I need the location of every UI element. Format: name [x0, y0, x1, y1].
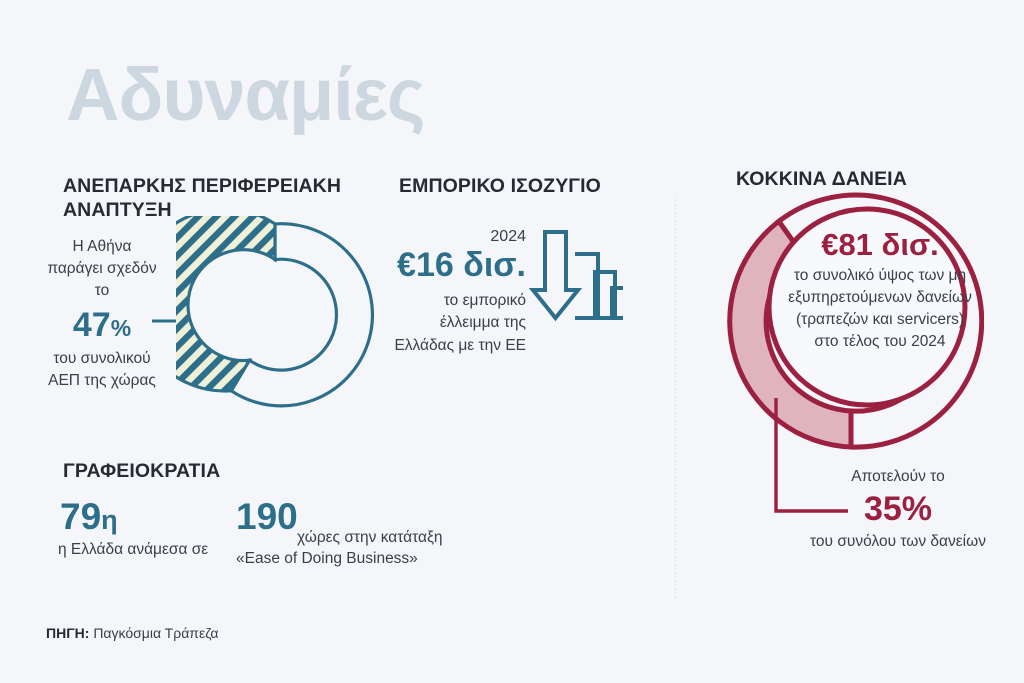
bureaucracy-index-name: «Ease of Doing Business» [236, 550, 418, 568]
trade-deficit-description: το εμπορικό έλλειμμα της Ελλάδας με την … [380, 290, 526, 357]
source-value: Παγκόσμια Τράπεζα [93, 625, 218, 641]
npl-share-percentage: 35% [800, 489, 996, 530]
page-title: Αδυναμίες [66, 58, 424, 132]
section-heading-bureaucracy: ΓΡΑΦΕΙΟΚΡΑΤΙΑ [63, 460, 363, 484]
bureaucracy-rank-value: 79η [60, 498, 118, 535]
bureaucracy-rank-suffix: η [101, 505, 118, 535]
bar-short [612, 288, 623, 318]
source-line: ΠΗΓΗ: Παγκόσμια Τράπεζα [46, 625, 219, 641]
npl-share-annotation: Αποτελούν το 35% του συνόλου των δανείων [800, 466, 996, 553]
donut-chart-regional-gdp [176, 216, 374, 414]
npl-share-lead-text: Αποτελούν το [851, 468, 944, 485]
trade-deficit-amount: €16 δισ. [372, 248, 526, 284]
regional-annotation: Η Αθήνα παράγει σχεδόν το 47% του συνολι… [46, 236, 158, 392]
regional-trail-text: του συνολικού ΑΕΠ της χώρας [48, 350, 156, 389]
section-heading-trade-balance: ΕΜΠΟΡΙΚΟ ΙΣΟΖΥΓΙΟ [399, 175, 649, 199]
npl-amount: €81 δισ. [788, 228, 972, 262]
panel-divider [675, 196, 676, 600]
bureaucracy-rank-description: η Ελλάδα ανάμεσα σε [58, 541, 208, 559]
infographic-canvas: Αδυναμίες ΑΝΕΠΑΡΚΗΣ ΠΕΡΙΦΕΡΕΙΑΚΗ ΑΝΑΠΤΥΞ… [0, 0, 1024, 683]
source-label: ΠΗΓΗ: [46, 625, 89, 641]
regional-percentage-unit: % [111, 315, 131, 341]
trade-year-label: 2024 [396, 228, 526, 246]
regional-lead-text: Η Αθήνα παράγει σχεδόν το [47, 238, 156, 299]
regional-percentage-value: 47% [46, 304, 158, 347]
npl-share-trail-text: του συνόλου των δανείων [810, 533, 986, 550]
declining-bars-down-arrow-icon [527, 228, 623, 328]
bureaucracy-countries-description: χώρες στην κατάταξη [297, 529, 443, 547]
bureaucracy-countries-value: 190 [236, 498, 298, 535]
regional-percentage-number: 47 [73, 306, 111, 344]
down-arrow-shape [533, 232, 578, 318]
bureaucracy-rank-number: 79 [60, 496, 101, 537]
npl-description: το συνολικό ύψος των μη εξυπηρετούμενων … [788, 265, 972, 353]
npl-callout: €81 δισ. το συνολικό ύψος των μη εξυπηρε… [788, 228, 972, 353]
